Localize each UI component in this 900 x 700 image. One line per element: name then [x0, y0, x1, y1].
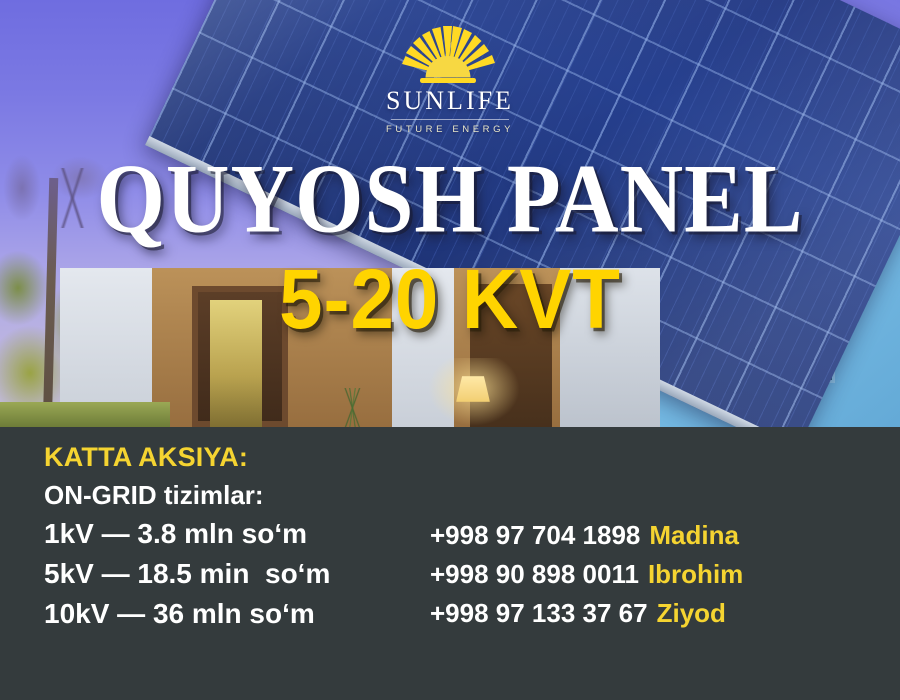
contact-phone-number[interactable]: +998 90 898 0011 — [430, 559, 639, 589]
price-row: 10kV — 36 mln so‘m — [44, 599, 330, 629]
promo-label: KATTA AKSIYA: — [44, 442, 248, 473]
price-row: 1kV — 3.8 mln so‘m — [44, 519, 330, 549]
brand-logo: SUNLIFE FUTURE ENERGY — [350, 22, 550, 135]
contact-row[interactable]: +998 97 704 1898Madina — [430, 521, 743, 550]
garden-hedge — [0, 402, 170, 427]
logo-divider — [391, 119, 509, 120]
brand-tagline: FUTURE ENERGY — [350, 124, 550, 135]
price-list: 1kV — 3.8 mln so‘m 5kV — 18.5 min so‘m 1… — [44, 519, 330, 630]
sun-rays-icon — [402, 22, 498, 84]
contact-row[interactable]: +998 97 133 37 67Ziyod — [430, 599, 743, 628]
contact-person-name: Ibrohim — [648, 559, 743, 589]
contact-phone-number[interactable]: +998 97 704 1898 — [430, 520, 640, 550]
brand-name: SUNLIFE — [350, 86, 550, 116]
solar-panel-advertisement: SUNLIFE FUTURE ENERGY QUYOSH PANEL 5-20 … — [0, 0, 900, 700]
ornamental-grass-plant — [330, 388, 376, 427]
contact-person-name: Madina — [649, 520, 739, 550]
contact-row[interactable]: +998 90 898 0011Ibrohim — [430, 560, 743, 589]
info-panel: KATTA AKSIYA: ON-GRID tizimlar: 1kV — 3.… — [0, 427, 900, 700]
price-row: 5kV — 18.5 min so‘m — [44, 559, 330, 589]
contact-list: +998 97 704 1898Madina +998 90 898 0011I… — [430, 521, 743, 628]
system-type-label: ON-GRID tizimlar: — [44, 480, 264, 511]
hero-subheadline: 5-20 KVT — [0, 259, 900, 339]
hero-headline: QUYOSH PANEL — [0, 155, 900, 246]
contact-person-name: Ziyod — [657, 598, 726, 628]
contact-phone-number[interactable]: +998 97 133 37 67 — [430, 598, 648, 628]
